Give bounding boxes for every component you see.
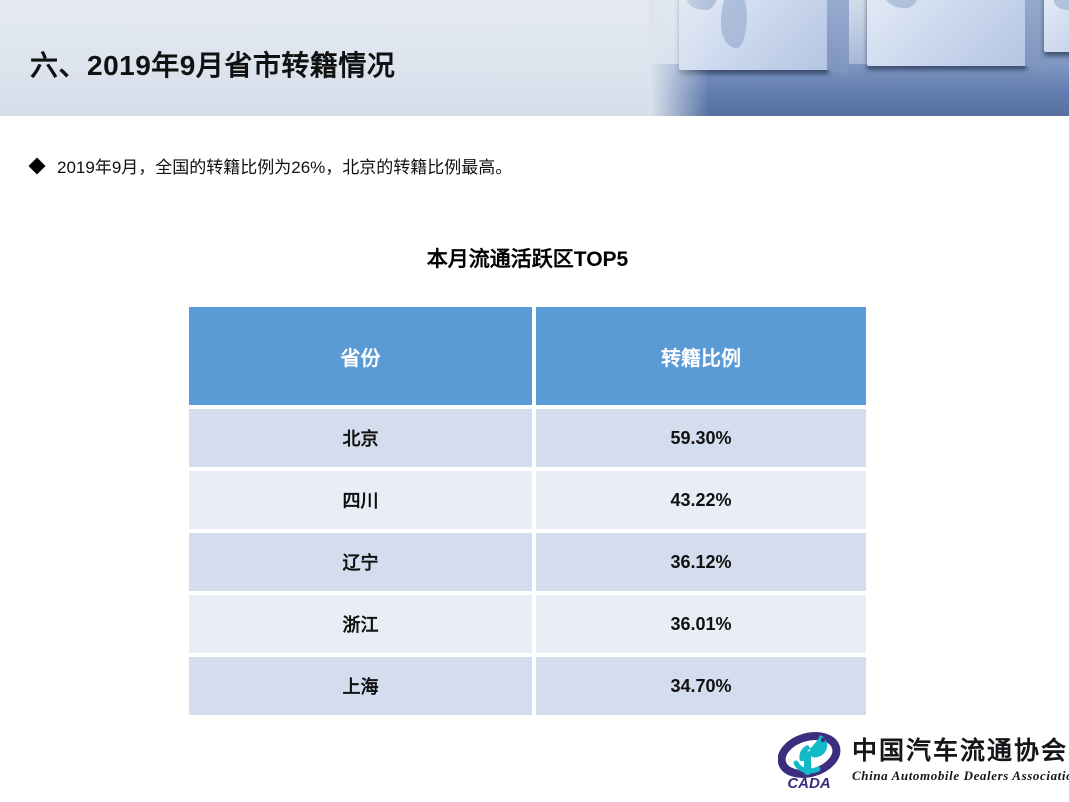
cada-abbr-text: CADA bbox=[787, 775, 830, 791]
cada-emblem-icon: CADA bbox=[778, 729, 844, 791]
table-body: 北京 59.30% 四川 43.22% 辽宁 36.12% 浙江 36.01% … bbox=[189, 409, 866, 715]
decorative-cube-3 bbox=[1044, 0, 1069, 52]
column-header-ratio: 转籍比例 bbox=[536, 307, 866, 409]
cube-floor bbox=[649, 64, 1069, 116]
cada-emblem-svg: CADA bbox=[778, 729, 844, 791]
table-row: 浙江 36.01% bbox=[189, 595, 866, 657]
logo-name-en: China Automobile Dealers Association bbox=[852, 769, 1069, 782]
cell-province: 辽宁 bbox=[189, 533, 536, 595]
cada-logo: CADA 中国汽车流通协会 China Automobile Dealers A… bbox=[778, 727, 1063, 793]
table-row: 四川 43.22% bbox=[189, 471, 866, 533]
table-head: 省份 转籍比例 bbox=[189, 307, 866, 409]
cell-province: 上海 bbox=[189, 657, 536, 715]
slide-header-band: 六、2019年9月省市转籍情况 bbox=[0, 0, 1069, 116]
header-art-fade bbox=[649, 0, 709, 116]
cell-ratio: 59.30% bbox=[536, 409, 866, 471]
table-title: 本月流通活跃区TOP5 bbox=[189, 243, 866, 273]
table-row: 上海 34.70% bbox=[189, 657, 866, 715]
cell-ratio: 36.01% bbox=[536, 595, 866, 657]
column-header-province: 省份 bbox=[189, 307, 536, 409]
logo-text-block: 中国汽车流通协会 China Automobile Dealers Associ… bbox=[852, 739, 1069, 782]
table-header-row: 省份 转籍比例 bbox=[189, 307, 866, 409]
world-map-texture bbox=[721, 0, 747, 48]
table-row: 辽宁 36.12% bbox=[189, 533, 866, 595]
world-map-texture bbox=[885, 0, 919, 8]
world-map-texture bbox=[1054, 0, 1069, 10]
logo-name-cn: 中国汽车流通协会 bbox=[852, 739, 1069, 764]
slide-title: 六、2019年9月省市转籍情况 bbox=[30, 44, 395, 84]
cube-front-face bbox=[867, 0, 1027, 66]
summary-bullet-text: 2019年9月，全国的转籍比例为26%，北京的转籍比例最高。 bbox=[57, 153, 512, 178]
cell-ratio: 34.70% bbox=[536, 657, 866, 715]
cube-front-face bbox=[1044, 0, 1069, 52]
cell-province: 四川 bbox=[189, 471, 536, 533]
summary-bullet-row: 2019年9月，全国的转籍比例为26%，北京的转籍比例最高。 bbox=[31, 153, 512, 178]
cell-province: 浙江 bbox=[189, 595, 536, 657]
diamond-bullet-icon bbox=[29, 157, 46, 174]
header-decorative-cubes-image bbox=[649, 0, 1069, 116]
cube-side-face bbox=[827, 0, 849, 76]
cell-province: 北京 bbox=[189, 409, 536, 471]
table-row: 北京 59.30% bbox=[189, 409, 866, 471]
top5-transfer-ratio-table: 省份 转籍比例 北京 59.30% 四川 43.22% 辽宁 36.12% 浙江… bbox=[189, 307, 866, 715]
decorative-cube-2 bbox=[867, 0, 1027, 66]
cell-ratio: 43.22% bbox=[536, 471, 866, 533]
cell-ratio: 36.12% bbox=[536, 533, 866, 595]
